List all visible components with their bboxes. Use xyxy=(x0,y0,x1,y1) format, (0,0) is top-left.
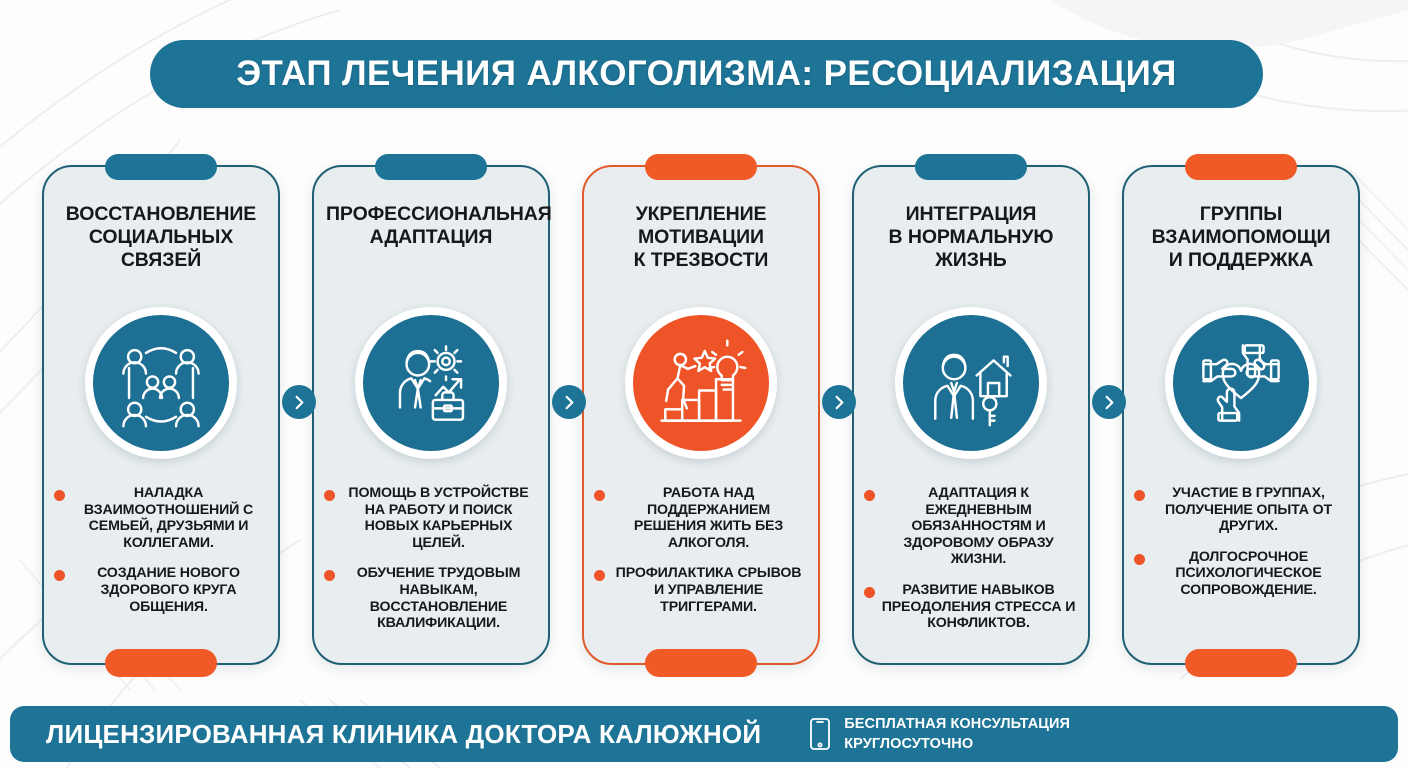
bullet-item: РАЗВИТИЕ НАВЫКОВ ПРЕОДОЛЕНИЯ СТРЕССА И К… xyxy=(864,582,1080,632)
step-bullets: АДАПТАЦИЯ К ЕЖЕДНЕВНЫМ ОБЯЗАННОСТЯМ И ЗД… xyxy=(864,485,1080,646)
card-top-tab xyxy=(375,154,487,180)
step-card-4[interactable]: ИНТЕГРАЦИЯ В НОРМАЛЬНУЮ ЖИЗНЬ xyxy=(852,165,1090,665)
bullet-text: СОЗДАНИЕ НОВОГО ЗДОРОВОГО КРУГА ОБЩЕНИЯ. xyxy=(65,565,270,615)
bullet-dot-icon xyxy=(1134,490,1145,501)
step-title: ИНТЕГРАЦИЯ В НОРМАЛЬНУЮ ЖИЗНЬ xyxy=(866,203,1076,271)
step-bullets: УЧАСТИЕ В ГРУППАХ, ПОЛУЧЕНИЕ ОПЫТА ОТ ДР… xyxy=(1134,485,1350,613)
chevron-right-icon-3 xyxy=(822,385,856,419)
chevron-right-icon-2 xyxy=(552,385,586,419)
footer-contact: БЕСПЛАТНАЯ КОНСУЛЬТАЦИЯ КРУГЛОСУТОЧНО xyxy=(809,714,1070,754)
businessman-gear-briefcase-icon xyxy=(363,315,499,451)
bullet-text: ПРОФИЛАКТИКА СРЫВОВ И УПРАВЛЕНИЕ ТРИГГЕР… xyxy=(605,565,810,615)
bullet-text: ПОМОЩЬ В УСТРОЙСТВЕ НА РАБОТУ И ПОИСК НО… xyxy=(335,485,540,551)
bullet-dot-icon xyxy=(54,490,65,501)
steps-container: ВОССТАНОВЛЕНИЕ СОЦИАЛЬНЫХ СВЯЗЕЙ xyxy=(0,150,1408,680)
chevron-right-icon-1 xyxy=(282,385,316,419)
bullet-dot-icon xyxy=(1134,554,1145,565)
bullet-item: ПОМОЩЬ В УСТРОЙСТВЕ НА РАБОТУ И ПОИСК НО… xyxy=(324,485,540,551)
bullet-item: НАЛАДКА ВЗАИМООТНОШЕНИЙ С СЕМЬЕЙ, ДРУЗЬЯ… xyxy=(54,485,270,551)
step-title: ГРУППЫ ВЗАИМОПОМОЩИ И ПОДДЕРЖКА xyxy=(1136,203,1346,271)
bullet-text: ДОЛГОСРОЧНОЕ ПСИХОЛОГИЧЕСКОЕ СОПРОВОЖДЕН… xyxy=(1145,549,1350,599)
bullet-item: ОБУЧЕНИЕ ТРУДОВЫМ НАВЫКАМ, ВОССТАНОВЛЕНИ… xyxy=(324,565,540,631)
step-icon-wrap xyxy=(895,307,1047,459)
clinic-name: ЛИЦЕНЗИРОВАННАЯ КЛИНИКА ДОКТОРА КАЛЮЖНОЙ xyxy=(46,719,761,750)
card-top-tab xyxy=(645,154,757,180)
step-card-1[interactable]: ВОССТАНОВЛЕНИЕ СОЦИАЛЬНЫХ СВЯЗЕЙ xyxy=(42,165,280,665)
contact-note: БЕСПЛАТНАЯ КОНСУЛЬТАЦИЯ КРУГЛОСУТОЧНО xyxy=(844,714,1070,754)
bullet-text: УЧАСТИЕ В ГРУППАХ, ПОЛУЧЕНИЕ ОПЫТА ОТ ДР… xyxy=(1145,485,1350,535)
bullet-dot-icon xyxy=(324,490,335,501)
stairs-star-lightbulb-icon xyxy=(633,315,769,451)
step-icon-wrap xyxy=(355,307,507,459)
step-bullets: НАЛАДКА ВЗАИМООТНОШЕНИЙ С СЕМЬЕЙ, ДРУЗЬЯ… xyxy=(54,485,270,629)
bullet-dot-icon xyxy=(594,490,605,501)
bullet-dot-icon xyxy=(864,490,875,501)
card-top-tab xyxy=(105,154,217,180)
bullet-text: РАБОТА НАД ПОДДЕРЖАНИЕМ РЕШЕНИЯ ЖИТЬ БЕЗ… xyxy=(605,485,810,551)
step-title: УКРЕПЛЕНИЕ МОТИВАЦИИ К ТРЕЗВОСТИ xyxy=(596,203,806,271)
people-network-icon xyxy=(93,315,229,451)
bullet-dot-icon xyxy=(594,570,605,581)
card-bottom-tab xyxy=(1185,649,1297,677)
bullet-text: НАЛАДКА ВЗАИМООТНОШЕНИЙ С СЕМЬЕЙ, ДРУЗЬЯ… xyxy=(65,485,270,551)
step-card-2[interactable]: ПРОФЕССИОНАЛЬНАЯ АДАПТАЦИЯ xyxy=(312,165,550,665)
step-title: ВОССТАНОВЛЕНИЕ СОЦИАЛЬНЫХ СВЯЗЕЙ xyxy=(56,203,266,271)
bullet-text: РАЗВИТИЕ НАВЫКОВ ПРЕОДОЛЕНИЯ СТРЕССА И К… xyxy=(875,582,1080,632)
card-top-tab xyxy=(915,154,1027,180)
card-bottom-tab xyxy=(645,649,757,677)
step-card-5[interactable]: ГРУППЫ ВЗАИМОПОМОЩИ И ПОДДЕРЖКА xyxy=(1122,165,1360,665)
step-card-3[interactable]: УКРЕПЛЕНИЕ МОТИВАЦИИ К ТРЕЗВОСТИ xyxy=(582,165,820,665)
footer-bar: ЛИЦЕНЗИРОВАННАЯ КЛИНИКА ДОКТОРА КАЛЮЖНОЙ… xyxy=(10,706,1398,762)
person-house-key-icon xyxy=(903,315,1039,451)
card-top-tab xyxy=(1185,154,1297,180)
hands-heart-icon xyxy=(1173,315,1309,451)
bullet-text: АДАПТАЦИЯ К ЕЖЕДНЕВНЫМ ОБЯЗАННОСТЯМ И ЗД… xyxy=(875,485,1080,568)
bullet-item: ДОЛГОСРОЧНОЕ ПСИХОЛОГИЧЕСКОЕ СОПРОВОЖДЕН… xyxy=(1134,549,1350,599)
chevron-right-icon-4 xyxy=(1092,385,1126,419)
infographic-root: ЭТАП ЛЕЧЕНИЯ АЛКОГОЛИЗМА: РЕСОЦИАЛИЗАЦИЯ… xyxy=(0,0,1408,768)
step-icon-wrap xyxy=(1165,307,1317,459)
step-bullets: РАБОТА НАД ПОДДЕРЖАНИЕМ РЕШЕНИЯ ЖИТЬ БЕЗ… xyxy=(594,485,810,629)
card-bottom-tab xyxy=(105,649,217,677)
step-icon-wrap xyxy=(625,307,777,459)
bullet-item: ПРОФИЛАКТИКА СРЫВОВ И УПРАВЛЕНИЕ ТРИГГЕР… xyxy=(594,565,810,615)
bullet-item: АДАПТАЦИЯ К ЕЖЕДНЕВНЫМ ОБЯЗАННОСТЯМ И ЗД… xyxy=(864,485,1080,568)
bullet-item: УЧАСТИЕ В ГРУППАХ, ПОЛУЧЕНИЕ ОПЫТА ОТ ДР… xyxy=(1134,485,1350,535)
page-title-bar: ЭТАП ЛЕЧЕНИЯ АЛКОГОЛИЗМА: РЕСОЦИАЛИЗАЦИЯ xyxy=(150,40,1263,108)
step-title: ПРОФЕССИОНАЛЬНАЯ АДАПТАЦИЯ xyxy=(326,203,536,249)
bullet-text: ОБУЧЕНИЕ ТРУДОВЫМ НАВЫКАМ, ВОССТАНОВЛЕНИ… xyxy=(335,565,540,631)
bullet-item: СОЗДАНИЕ НОВОГО ЗДОРОВОГО КРУГА ОБЩЕНИЯ. xyxy=(54,565,270,615)
page-title: ЭТАП ЛЕЧЕНИЯ АЛКОГОЛИЗМА: РЕСОЦИАЛИЗАЦИЯ xyxy=(236,54,1177,94)
bullet-item: РАБОТА НАД ПОДДЕРЖАНИЕМ РЕШЕНИЯ ЖИТЬ БЕЗ… xyxy=(594,485,810,551)
bullet-dot-icon xyxy=(324,570,335,581)
bullet-dot-icon xyxy=(864,587,875,598)
bullet-dot-icon xyxy=(54,570,65,581)
step-bullets: ПОМОЩЬ В УСТРОЙСТВЕ НА РАБОТУ И ПОИСК НО… xyxy=(324,485,540,646)
step-icon-wrap xyxy=(85,307,237,459)
mobile-phone-icon xyxy=(809,717,831,751)
